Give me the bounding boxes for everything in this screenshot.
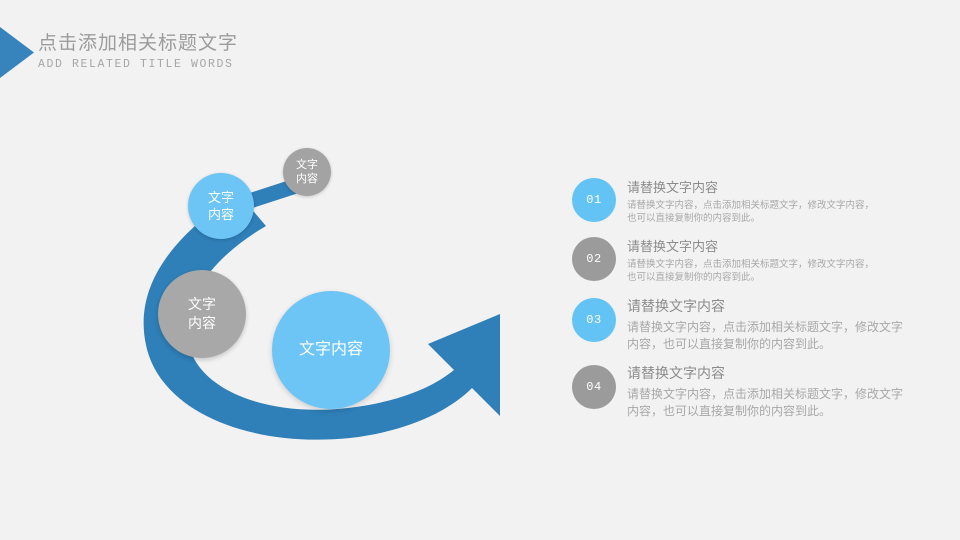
- diagram-node-2-line2: 内容: [296, 172, 318, 186]
- list-item-title: 请替换文字内容: [627, 179, 877, 196]
- bullet-list: 01 请替换文字内容 请替换文字内容，点击添加相关标题文字，修改文字内容，也可以…: [572, 178, 932, 430]
- list-item-badge: 01: [572, 178, 616, 222]
- diagram-node-2[interactable]: 文字 内容: [283, 148, 331, 196]
- diagram-node-1-line2: 内容: [208, 206, 234, 223]
- list-item-title: 请替换文字内容: [627, 297, 909, 316]
- process-diagram: 文字 内容 文字 内容 文字 内容 文字内容: [110, 130, 570, 460]
- list-item-badge: 04: [572, 365, 616, 409]
- title-english: ADD RELATED TITLE WORDS: [38, 58, 458, 72]
- list-item[interactable]: 01 请替换文字内容 请替换文字内容，点击添加相关标题文字，修改文字内容，也可以…: [572, 178, 932, 225]
- page-title: 点击添加相关标题文字 ADD RELATED TITLE WORDS: [38, 32, 458, 72]
- diagram-node-4[interactable]: 文字内容: [272, 291, 390, 409]
- list-item-body: 请替换文字内容，点击添加相关标题文字，修改文字内容，也可以直接复制你的内容到此。: [627, 258, 877, 284]
- list-item-body: 请替换文字内容，点击添加相关标题文字，修改文字内容，也可以直接复制你的内容到此。: [627, 319, 909, 353]
- diagram-node-1[interactable]: 文字 内容: [188, 173, 254, 239]
- diagram-node-3-line1: 文字: [188, 295, 216, 314]
- diagram-node-4-line1: 文字内容: [299, 340, 363, 360]
- list-item-title: 请替换文字内容: [627, 238, 877, 255]
- list-item-body: 请替换文字内容，点击添加相关标题文字，修改文字内容，也可以直接复制你的内容到此。: [627, 386, 909, 420]
- list-item[interactable]: 03 请替换文字内容 请替换文字内容，点击添加相关标题文字，修改文字内容，也可以…: [572, 296, 932, 353]
- list-item-body: 请替换文字内容，点击添加相关标题文字，修改文字内容，也可以直接复制你的内容到此。: [627, 199, 877, 225]
- diagram-node-3[interactable]: 文字 内容: [158, 270, 246, 358]
- diagram-node-2-line1: 文字: [296, 158, 318, 172]
- diagram-node-1-line1: 文字: [208, 189, 234, 206]
- list-item-badge: 03: [572, 298, 616, 342]
- list-item-title: 请替换文字内容: [627, 364, 909, 383]
- list-item[interactable]: 02 请替换文字内容 请替换文字内容，点击添加相关标题文字，修改文字内容，也可以…: [572, 237, 932, 284]
- diagram-node-3-line2: 内容: [188, 314, 216, 333]
- right-triangle-icon: [0, 27, 34, 78]
- list-item-badge: 02: [572, 237, 616, 281]
- list-item[interactable]: 04 请替换文字内容 请替换文字内容，点击添加相关标题文字，修改文字内容，也可以…: [572, 363, 932, 420]
- slide-canvas: 点击添加相关标题文字 ADD RELATED TITLE WORDS 文字 内容…: [0, 0, 960, 540]
- title-chinese: 点击添加相关标题文字: [38, 32, 458, 56]
